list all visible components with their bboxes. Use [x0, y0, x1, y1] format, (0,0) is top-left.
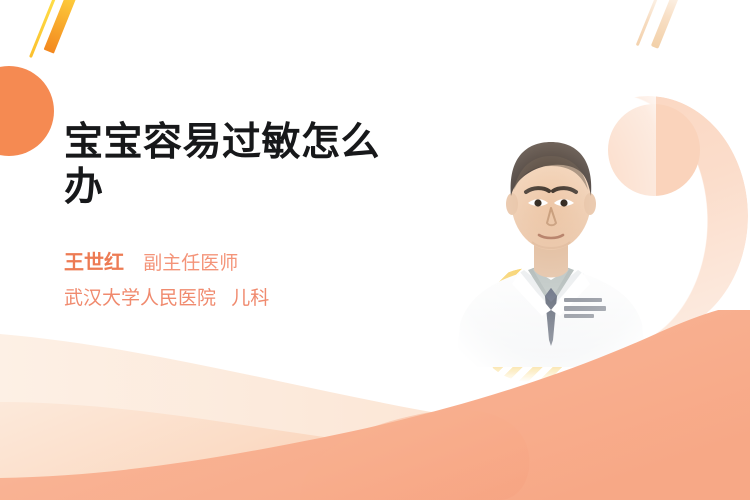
- doctor-affiliation-line: 武汉大学人民医院 儿科: [64, 286, 269, 312]
- doctor-department: 儿科: [231, 288, 269, 309]
- article-title: 宝宝容易过敏怎么办: [64, 120, 404, 210]
- orange-circle-decoration: [0, 66, 54, 156]
- diagonal-slash-yellow-thin-icon: [29, 0, 58, 58]
- doctor-identity-line: 王世红 副主任医师: [64, 250, 238, 277]
- diagonal-slash-cream-thin-icon: [636, 0, 664, 46]
- doctor-name: 王世红: [64, 252, 124, 274]
- doctor-article-cover-card: 宝宝容易过敏怎么办 王世红 副主任医师 武汉大学人民医院 儿科: [0, 0, 750, 500]
- doctor-hospital: 武汉大学人民医院: [64, 288, 216, 309]
- diagonal-slash-cream-thick-icon: [651, 0, 685, 49]
- bottom-wave-decoration: [0, 310, 750, 500]
- diagonal-slash-orange-thick-icon: [44, 0, 80, 54]
- doctor-professional-title: 副主任医师: [143, 253, 238, 274]
